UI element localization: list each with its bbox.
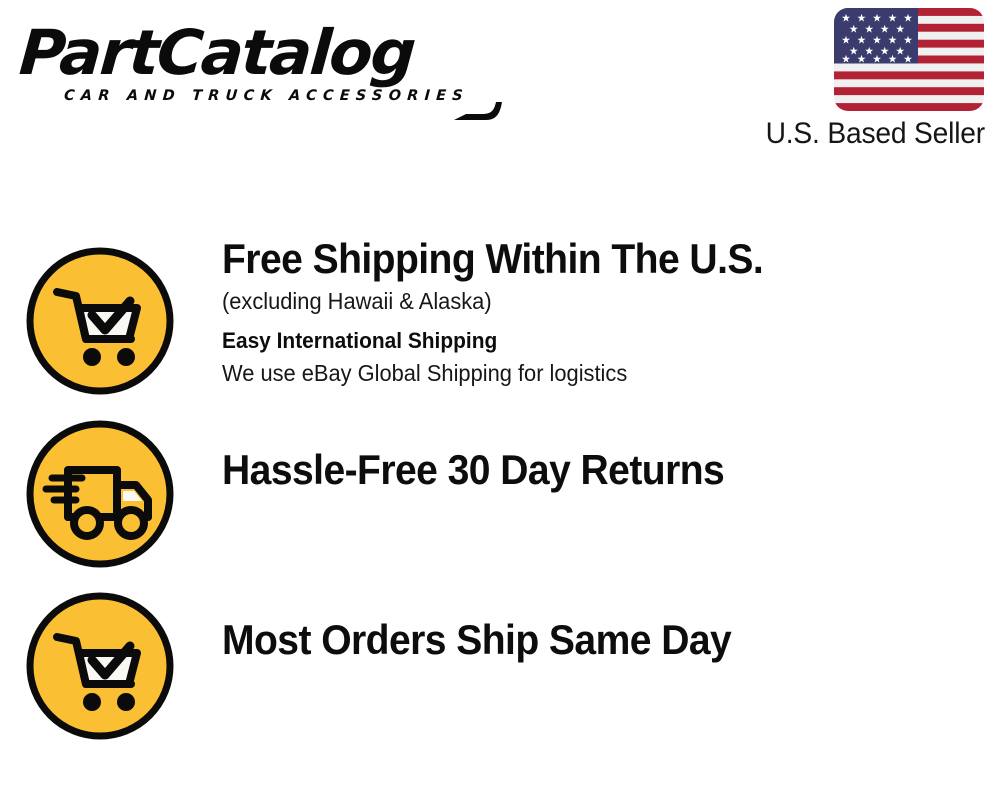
us-based-seller-badge: U.S. Based Seller — [718, 8, 988, 151]
seller-label: U.S. Based Seller — [734, 117, 985, 151]
feature-subheading: Easy International Shipping — [222, 324, 961, 357]
feature-row: Hassle-Free 30 Day Returns — [0, 395, 1000, 570]
brand-tagline: CAR AND TRUCK ACCESSORIES — [63, 88, 469, 104]
feature-note: (excluding Hawaii & Alaska) — [222, 284, 961, 318]
feature-row: Free Shipping Within The U.S. (excluding… — [0, 222, 1000, 412]
swoosh-icon — [452, 100, 504, 122]
feature-text-block: Hassle-Free 30 Day Returns — [200, 395, 1000, 495]
banner-header: PartCatalog CAR AND TRUCK ACCESSORIES — [0, 0, 1000, 165]
feature-icon-container — [0, 567, 200, 742]
feature-text-block: Free Shipping Within The U.S. (excluding… — [200, 222, 1000, 389]
feature-icon-container — [0, 222, 200, 397]
cart-check-icon — [24, 245, 176, 397]
feature-title: Most Orders Ship Same Day — [222, 615, 946, 665]
brand-wordmark: PartCatalog — [17, 20, 501, 86]
us-flag-icon — [834, 8, 984, 111]
cart-check-icon — [24, 590, 176, 742]
feature-row: Most Orders Ship Same Day — [0, 567, 1000, 742]
feature-title: Hassle-Free 30 Day Returns — [222, 445, 946, 495]
brand-logo[interactable]: PartCatalog CAR AND TRUCK ACCESSORIES — [22, 20, 492, 115]
delivery-truck-icon — [24, 418, 176, 570]
feature-title: Free Shipping Within The U.S. — [222, 234, 946, 284]
feature-text-block: Most Orders Ship Same Day — [200, 567, 1000, 665]
feature-icon-container — [0, 395, 200, 570]
feature-subtext: We use eBay Global Shipping for logistic… — [222, 357, 961, 389]
